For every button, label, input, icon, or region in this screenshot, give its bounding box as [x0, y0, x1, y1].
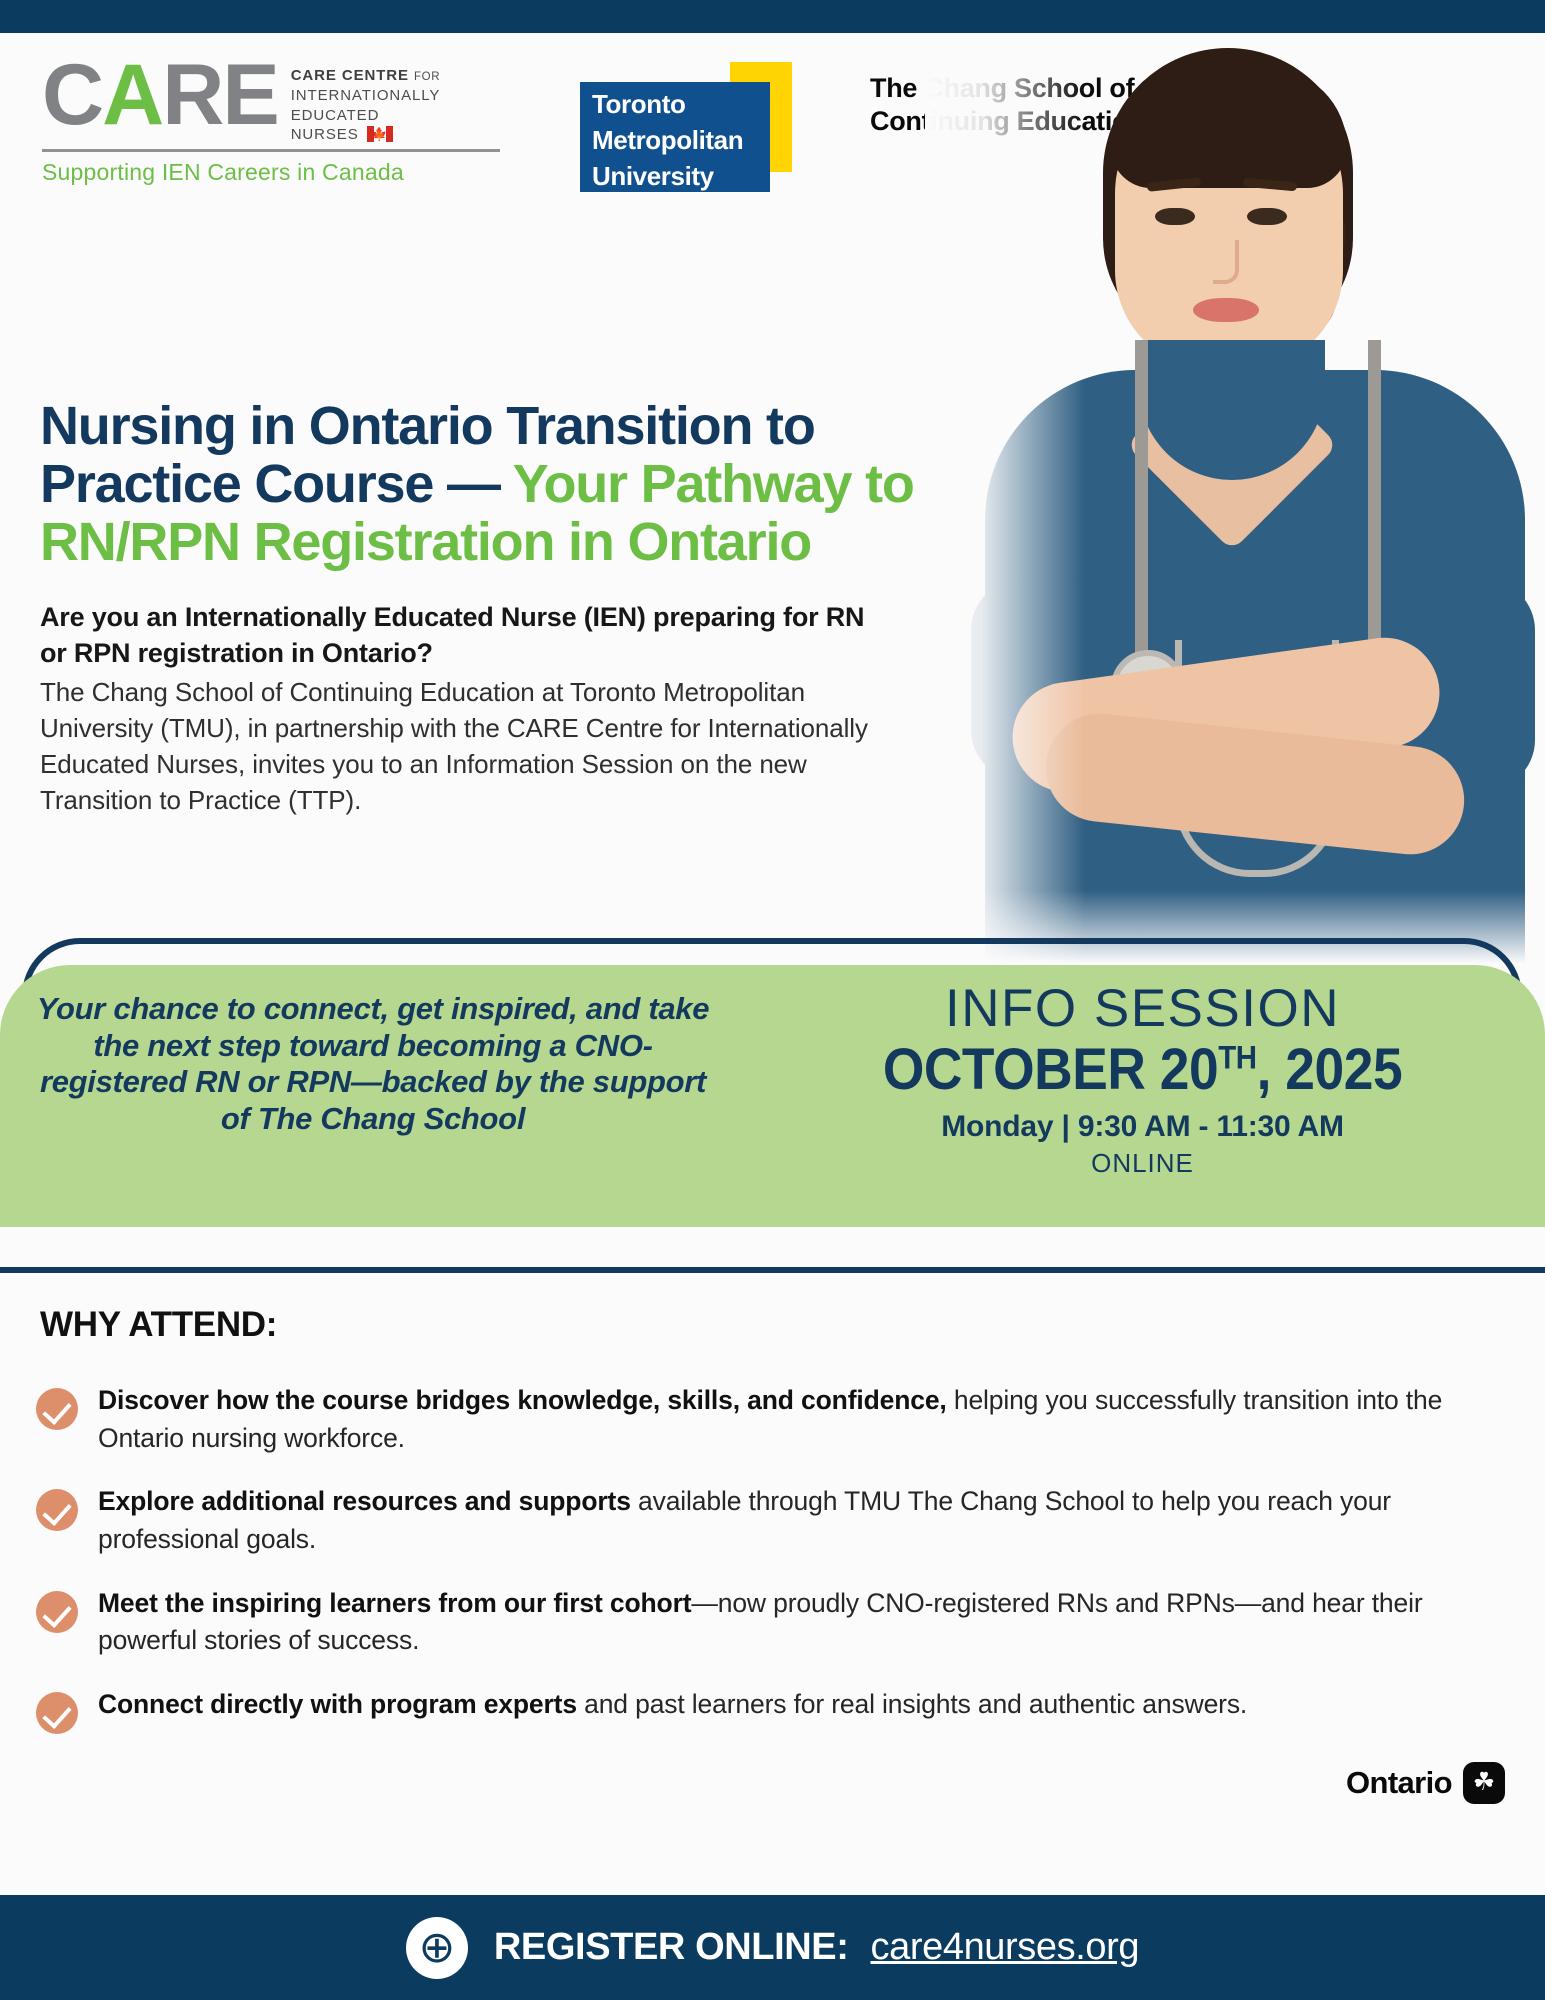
- care-subtext-for: FOR: [414, 71, 440, 83]
- list-item-rest: and past learners for real insights and …: [577, 1689, 1247, 1719]
- date-month-day: OCTOBER 20: [883, 1037, 1218, 1102]
- globe-glyph: ⊕: [418, 1926, 455, 1970]
- tmu-logo: Toronto Metropolitan University: [580, 62, 840, 192]
- banner-quote: Your chance to connect, get inspired, an…: [36, 991, 710, 1137]
- care-centre-logo: CARE CARE CENTRE FOR INTERNATIONALLY EDU…: [42, 60, 512, 186]
- list-item-bold: Meet the inspiring learners from our fir…: [98, 1588, 691, 1618]
- list-item-text: Explore additional resources and support…: [98, 1483, 1456, 1558]
- date-ordinal: TH: [1218, 1039, 1256, 1075]
- why-attend-list: Discover how the course bridges knowledg…: [36, 1382, 1456, 1760]
- list-item-text: Discover how the course bridges knowledg…: [98, 1382, 1456, 1457]
- flyer-page: CARE CARE CENTRE FOR INTERNATIONALLY EDU…: [0, 0, 1545, 2000]
- info-session-time: Monday | 9:30 AM - 11:30 AM: [740, 1110, 1545, 1144]
- ontario-wordmark: Ontario: [1346, 1765, 1452, 1801]
- intro-block: Are you an Internationally Educated Nurs…: [40, 600, 880, 819]
- list-item-bold: Explore additional resources and support…: [98, 1486, 631, 1516]
- care-tagline: Supporting IEN Careers in Canada: [42, 159, 512, 186]
- care-subtext-line4: NURSES: [291, 126, 359, 143]
- list-item: Explore additional resources and support…: [36, 1483, 1456, 1558]
- globe-icon: ⊕: [406, 1917, 468, 1979]
- top-accent-bar: [0, 0, 1545, 33]
- ontario-logo: Ontario ☘: [1346, 1762, 1505, 1804]
- care-subtext-line3: EDUCATED: [291, 106, 441, 126]
- info-session-date: OCTOBER 20TH, 2025: [772, 1039, 1513, 1100]
- register-online-label: REGISTER ONLINE:: [494, 1926, 849, 1969]
- list-item: Discover how the course bridges knowledg…: [36, 1382, 1456, 1457]
- list-item-bold: Discover how the course bridges knowledg…: [98, 1385, 947, 1415]
- ontario-trillium-icon: ☘: [1463, 1762, 1505, 1804]
- care-letter-r: R: [162, 47, 222, 143]
- ontario-trillium-glyph: ☘: [1473, 1770, 1495, 1795]
- photo-fringe: [1111, 68, 1347, 188]
- banner-quote-column: Your chance to connect, get inspired, an…: [0, 965, 740, 1227]
- care-logo-rule: [42, 149, 500, 152]
- date-year: , 2025: [1257, 1037, 1403, 1102]
- why-attend-title: WHY ATTEND:: [40, 1305, 277, 1345]
- tmu-line-toronto: Toronto: [580, 82, 770, 118]
- footer-bar: ⊕ REGISTER ONLINE: care4nurses.org: [0, 1895, 1545, 2000]
- care-logo-subtext: CARE CENTRE FOR INTERNATIONALLY EDUCATED…: [291, 66, 441, 145]
- care-subtext-line2: INTERNATIONALLY: [291, 86, 441, 106]
- tmu-line-metropolitan: Metropolitan: [580, 118, 770, 154]
- list-item: Meet the inspiring learners from our fir…: [36, 1585, 1456, 1660]
- banner-date-column: INFO SESSION OCTOBER 20TH, 2025 Monday |…: [740, 965, 1545, 1227]
- tmu-blue-block: Toronto Metropolitan University: [580, 82, 770, 192]
- info-session-label: INFO SESSION: [740, 981, 1545, 1037]
- check-circle-icon: [36, 1489, 78, 1531]
- register-url-link[interactable]: care4nurses.org: [871, 1926, 1140, 1969]
- intro-paragraph: The Chang School of Continuing Education…: [40, 675, 880, 819]
- photo-eye-left: [1155, 208, 1195, 225]
- check-circle-icon: [36, 1388, 78, 1430]
- care-letter-e: E: [222, 47, 277, 143]
- nurse-portrait-photo: [925, 40, 1545, 970]
- intro-lead: Are you an Internationally Educated Nurs…: [40, 600, 880, 671]
- photo-lips: [1193, 298, 1259, 322]
- list-item: Connect directly with program experts an…: [36, 1686, 1456, 1734]
- check-circle-icon: [36, 1591, 78, 1633]
- photo-nose: [1213, 240, 1239, 284]
- list-item-text: Connect directly with program experts an…: [98, 1686, 1247, 1734]
- care-subtext-line1: CARE CENTRE: [291, 67, 409, 84]
- care-letter-c: C: [42, 47, 102, 143]
- info-session-mode: ONLINE: [740, 1148, 1545, 1179]
- care-wordmark: CARE: [42, 60, 278, 131]
- list-item-bold: Connect directly with program experts: [98, 1689, 577, 1719]
- canada-flag-icon: 🍁: [367, 126, 393, 142]
- tmu-line-university: University: [580, 154, 770, 190]
- page-title: Nursing in Ontario Transition to Practic…: [40, 398, 1000, 571]
- section-divider: [0, 1267, 1545, 1273]
- check-circle-icon: [36, 1692, 78, 1734]
- info-session-banner: Your chance to connect, get inspired, an…: [0, 965, 1545, 1227]
- care-letter-a: A: [102, 47, 162, 143]
- photo-eye-right: [1247, 208, 1287, 225]
- list-item-text: Meet the inspiring learners from our fir…: [98, 1585, 1456, 1660]
